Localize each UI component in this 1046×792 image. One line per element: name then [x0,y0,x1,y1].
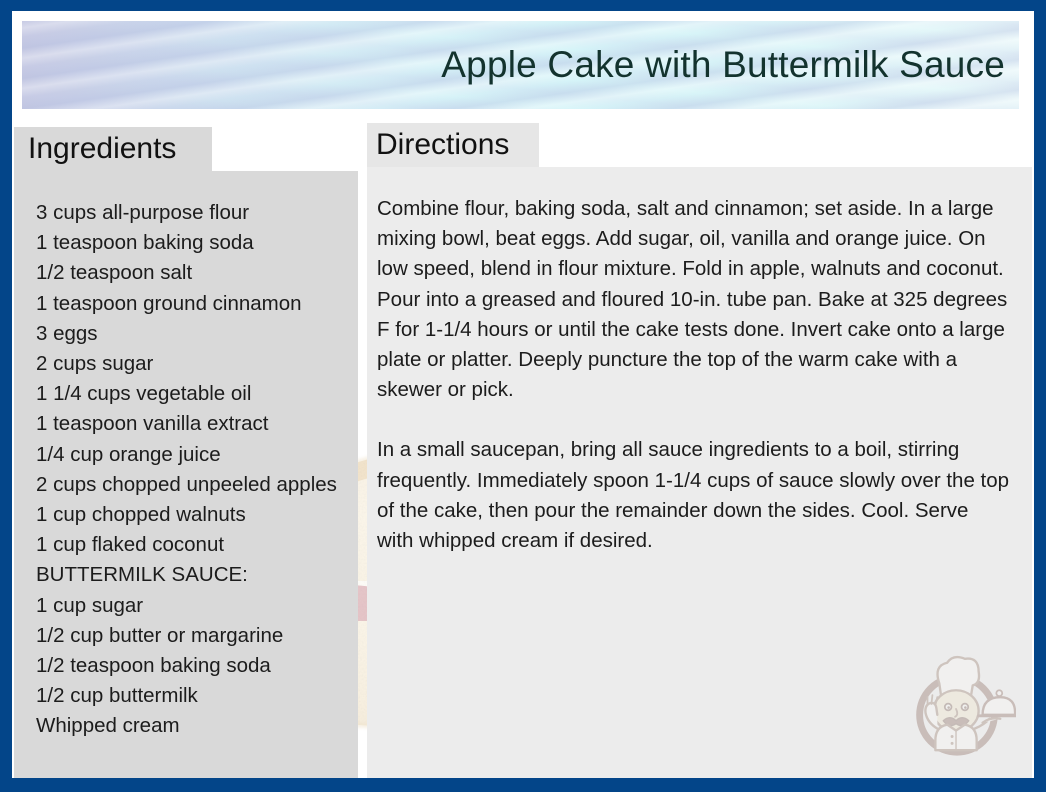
ingredients-heading: Ingredients [14,127,212,171]
list-item: 1 cup flaked coconut [36,530,358,560]
list-item: 1/2 teaspoon salt [36,258,358,288]
list-item: 2 cups chopped unpeeled apples [36,470,358,500]
ingredients-list: 3 cups all-purpose flour 1 teaspoon baki… [14,171,358,742]
ingredients-column: Ingredients 3 cups all-purpose flour 1 t… [14,127,358,778]
title-banner: Apple Cake with Buttermilk Sauce [22,21,1019,109]
list-item: 1 cup sugar [36,591,358,621]
directions-text: Combine flour, baking soda, salt and cin… [367,167,1032,556]
recipe-page: Apple Cake with Buttermilk Sauce [12,11,1034,778]
directions-paragraph: In a small saucepan, bring all sauce ing… [377,435,1010,556]
list-item: 1 cup chopped walnuts [36,500,358,530]
list-item: 1 teaspoon vanilla extract [36,409,358,439]
list-item: 1/4 cup orange juice [36,440,358,470]
list-item: 3 eggs [36,319,358,349]
list-item: 1 1/4 cups vegetable oil [36,379,358,409]
list-item: 1/2 cup buttermilk [36,681,358,711]
directions-heading: Directions [367,123,539,167]
directions-paragraph: Combine flour, baking soda, salt and cin… [377,194,1010,405]
list-item: 1/2 teaspoon baking soda [36,651,358,681]
chef-logo-icon [898,646,1016,764]
recipe-card: Apple Cake with Buttermilk Sauce [0,0,1046,792]
list-item: 1 teaspoon baking soda [36,228,358,258]
list-item: 3 cups all-purpose flour [36,198,358,228]
page-title: Apple Cake with Buttermilk Sauce [441,44,1005,86]
list-item: 2 cups sugar [36,349,358,379]
list-item: Whipped cream [36,711,358,741]
list-item: 1 teaspoon ground cinnamon [36,289,358,319]
list-item: 1/2 cup butter or margarine [36,621,358,651]
list-item: BUTTERMILK SAUCE: [36,560,358,590]
